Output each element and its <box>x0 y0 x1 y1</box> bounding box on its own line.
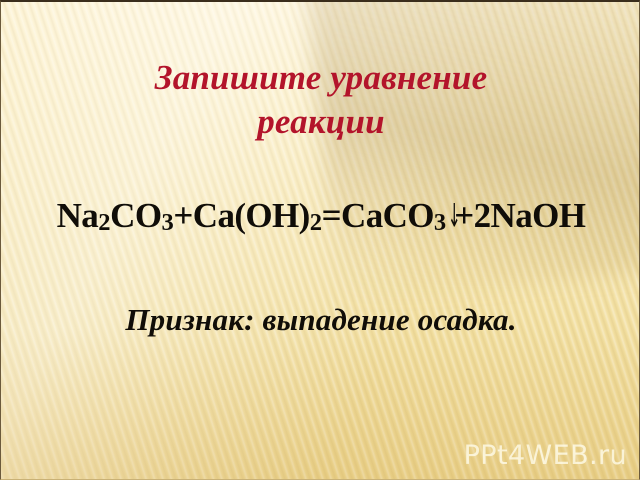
subscript-caco-3: 3 <box>434 209 446 236</box>
product-sodium-hydroxide: NaOH <box>491 196 586 235</box>
product-calcium-carbonate: CaCO3↓ <box>341 196 454 235</box>
reactant-sodium-carbonate: Na2CO3 <box>57 196 174 235</box>
chemical-equation: Na2CO3+Ca(OH)2=CaCO3↓+2NaOH <box>1 195 640 241</box>
reactant-calcium-hydroxide: Ca(OH)2 <box>193 196 322 235</box>
formula-co: CO <box>110 196 161 235</box>
subscript-co-3: 3 <box>161 209 173 236</box>
formula-ca-oh: Ca(OH) <box>193 196 310 235</box>
formula-caco: CaCO <box>341 196 434 235</box>
operator-plus-1: + <box>173 196 192 235</box>
slide-title: Запишите уравнение реакции <box>1 56 640 144</box>
subscript-na-2: 2 <box>98 209 110 236</box>
coefficient-naoh: 2 <box>474 196 491 235</box>
presentation-slide: Запишите уравнение реакции Na2CO3+Ca(OH)… <box>0 0 640 480</box>
subscript-oh-2: 2 <box>310 209 322 236</box>
formula-na: Na <box>57 196 99 235</box>
slide-content: Запишите уравнение реакции Na2CO3+Ca(OH)… <box>1 2 639 479</box>
site-watermark: PPt4WEB.ru <box>464 440 627 471</box>
operator-equals: = <box>322 196 341 235</box>
observation-caption: Признак: выпадение осадка. <box>1 300 640 340</box>
precipitate-down-arrow-icon: ↓ <box>448 192 453 240</box>
